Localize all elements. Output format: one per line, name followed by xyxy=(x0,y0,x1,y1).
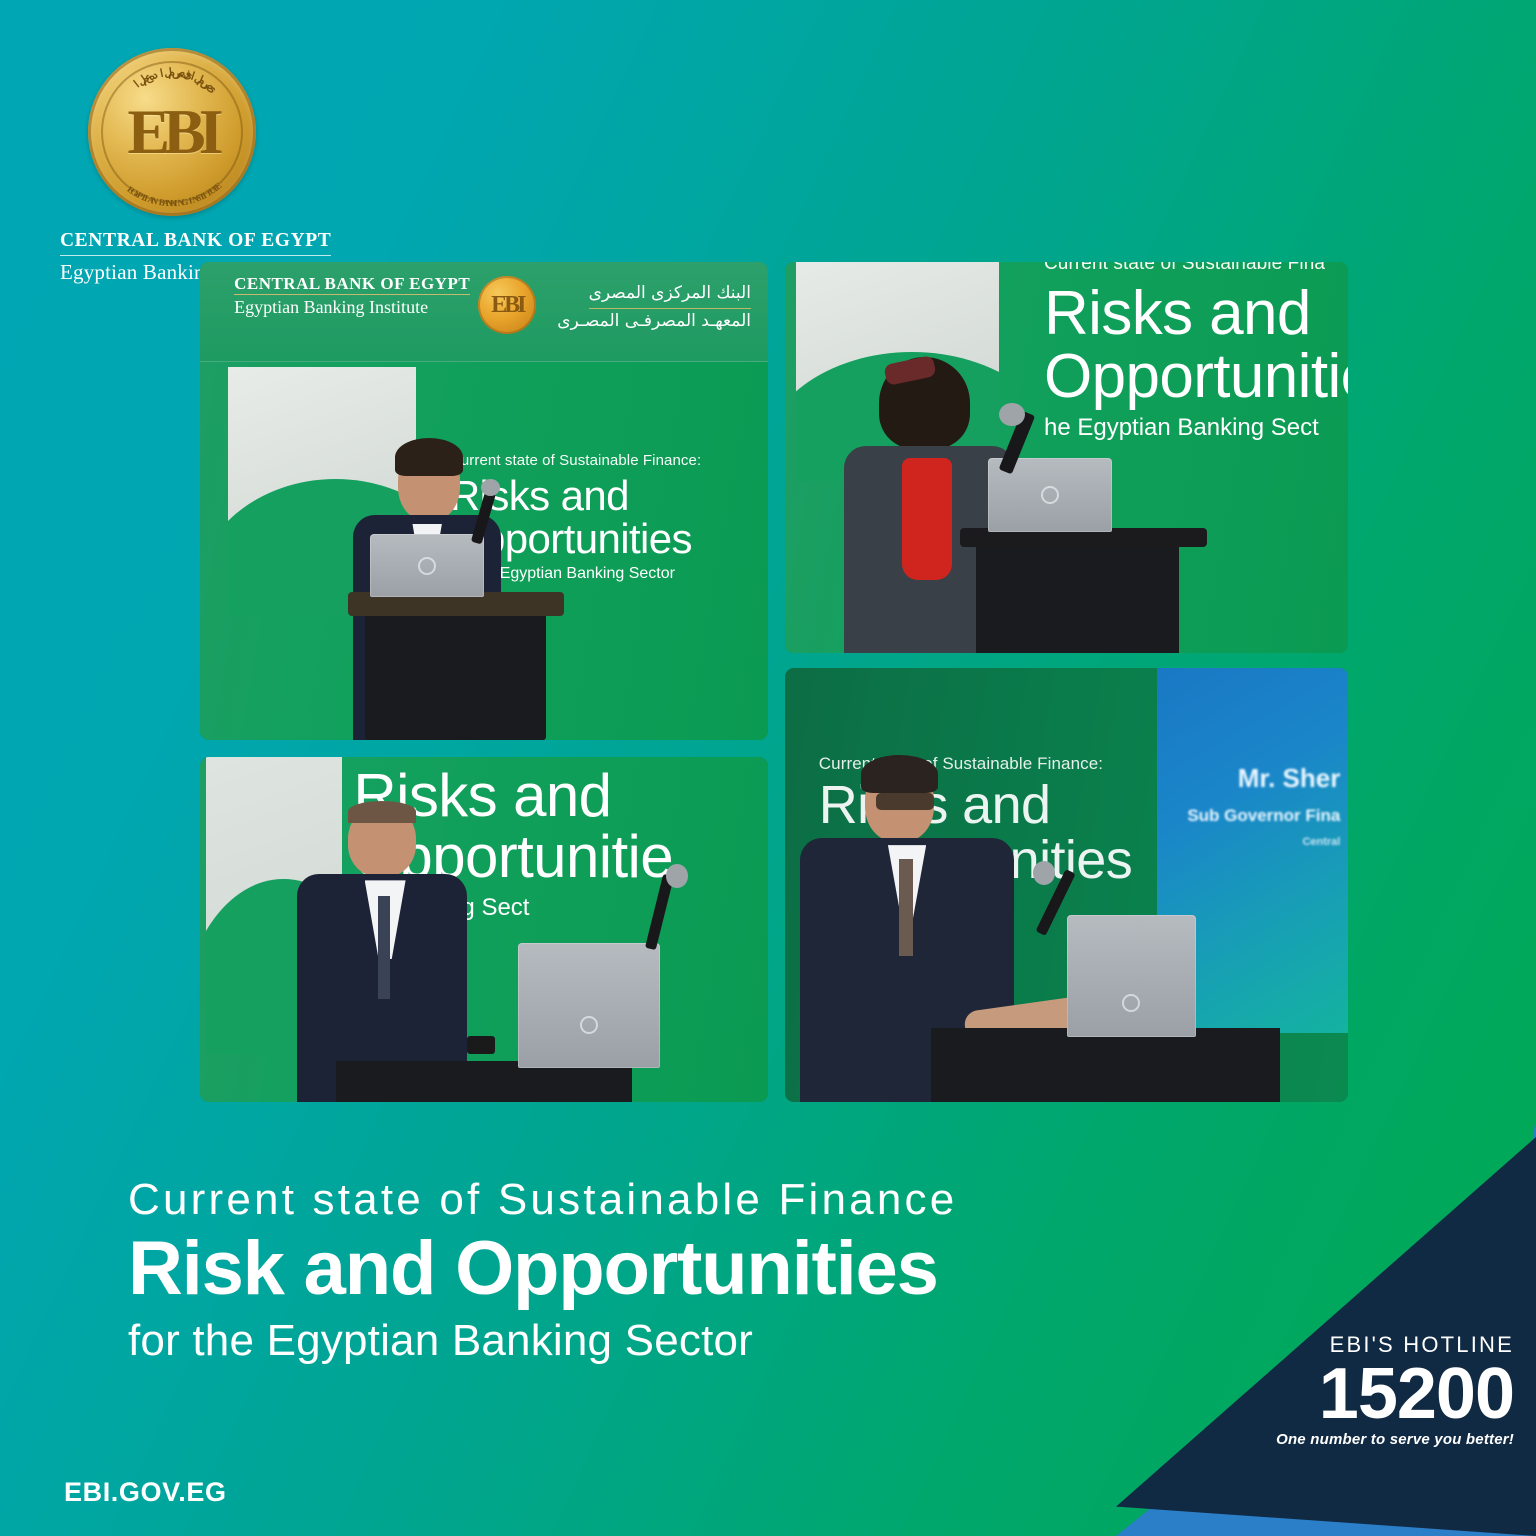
hotline-corner: EBI'S HOTLINE 15200 One number to serve … xyxy=(1116,1116,1536,1536)
event-photo-top-left: CENTRAL BANK OF EGYPT Egyptian Banking I… xyxy=(200,262,768,740)
website-url[interactable]: EBI.GOV.EG xyxy=(64,1477,227,1508)
hotline-tagline: One number to serve you better! xyxy=(1276,1431,1514,1448)
backdrop-line-a: Risks and xyxy=(1044,282,1348,345)
hp-logo-icon xyxy=(1122,994,1140,1012)
backdrop-line-b: Opportunitie xyxy=(1044,345,1348,408)
hp-logo-icon xyxy=(1041,486,1059,504)
ebi-seal-icon: EGYPTIAN BANKING INSTITUTEالمعهد المصرفى… xyxy=(88,48,256,216)
laptop-lid xyxy=(518,943,660,1067)
backdrop-header-en-1: CENTRAL BANK OF EGYPT xyxy=(234,274,470,295)
speaker-figure xyxy=(297,798,467,1102)
backdrop-header-en-2: Egyptian Banking Institute xyxy=(234,297,470,317)
microphone-head xyxy=(1033,861,1056,885)
projection-speaker-name: Mr. Sher xyxy=(1187,763,1340,794)
logo-central-bank-line: CENTRAL BANK OF EGYPT xyxy=(60,230,331,256)
backdrop-header-ar-1: البنك المركزى المصرى xyxy=(589,281,751,309)
seal-monogram: EBI xyxy=(88,48,256,216)
backdrop-header-ar-2: المعهـد المصرفـى المصـرى xyxy=(557,309,751,334)
hotline-number: 15200 xyxy=(1276,1360,1514,1429)
backdrop-subtitle: Current state of Sustainable Fina xyxy=(1044,262,1348,274)
ebi-logo-block: EGYPTIAN BANKING INSTITUTEالمعهد المصرفى… xyxy=(60,48,360,285)
event-photo-bottom-right: Mr. Sher Sub Governor Fina Central Curre… xyxy=(785,668,1348,1102)
microphone-head xyxy=(999,403,1025,426)
podium xyxy=(931,1028,1280,1102)
main-title-block: Current state of Sustainable Finance Ris… xyxy=(128,1175,1138,1367)
backdrop-footline: he Egyptian Banking Sect xyxy=(1044,416,1348,440)
corner-navy-triangle xyxy=(1116,1116,1536,1536)
projection-speaker-extra: Central xyxy=(1187,836,1340,848)
podium xyxy=(365,601,547,740)
laptop-lid xyxy=(1067,915,1196,1037)
presenter-clicker xyxy=(467,1036,495,1053)
eyeglasses-icon xyxy=(876,793,933,810)
event-photo-top-right: Current state of Sustainable Fina Risks … xyxy=(785,262,1348,653)
title-headline: Risk and Opportunities xyxy=(128,1228,1138,1310)
backdrop-subtitle: Sustainable Fina xyxy=(353,757,673,759)
hp-logo-icon xyxy=(580,1016,598,1034)
projection-speaker-role: Sub Governor Fina xyxy=(1187,806,1340,826)
red-scarf xyxy=(902,458,952,580)
poster-canvas: EGYPTIAN BANKING INSTITUTEالمعهد المصرفى… xyxy=(0,0,1536,1536)
laptop-lid xyxy=(370,534,484,596)
hotline-badge[interactable]: EBI'S HOTLINE 15200 One number to serve … xyxy=(1276,1332,1514,1448)
title-footline: for the Egyptian Banking Sector xyxy=(128,1316,1138,1367)
hp-logo-icon xyxy=(418,557,436,575)
title-subtitle: Current state of Sustainable Finance xyxy=(128,1175,1138,1224)
podium xyxy=(976,536,1179,653)
photo-collage: CENTRAL BANK OF EGYPT Egyptian Banking I… xyxy=(200,262,1348,1102)
event-photo-bottom-left: Sustainable Fina Risks and Opportunitie … xyxy=(200,757,768,1102)
